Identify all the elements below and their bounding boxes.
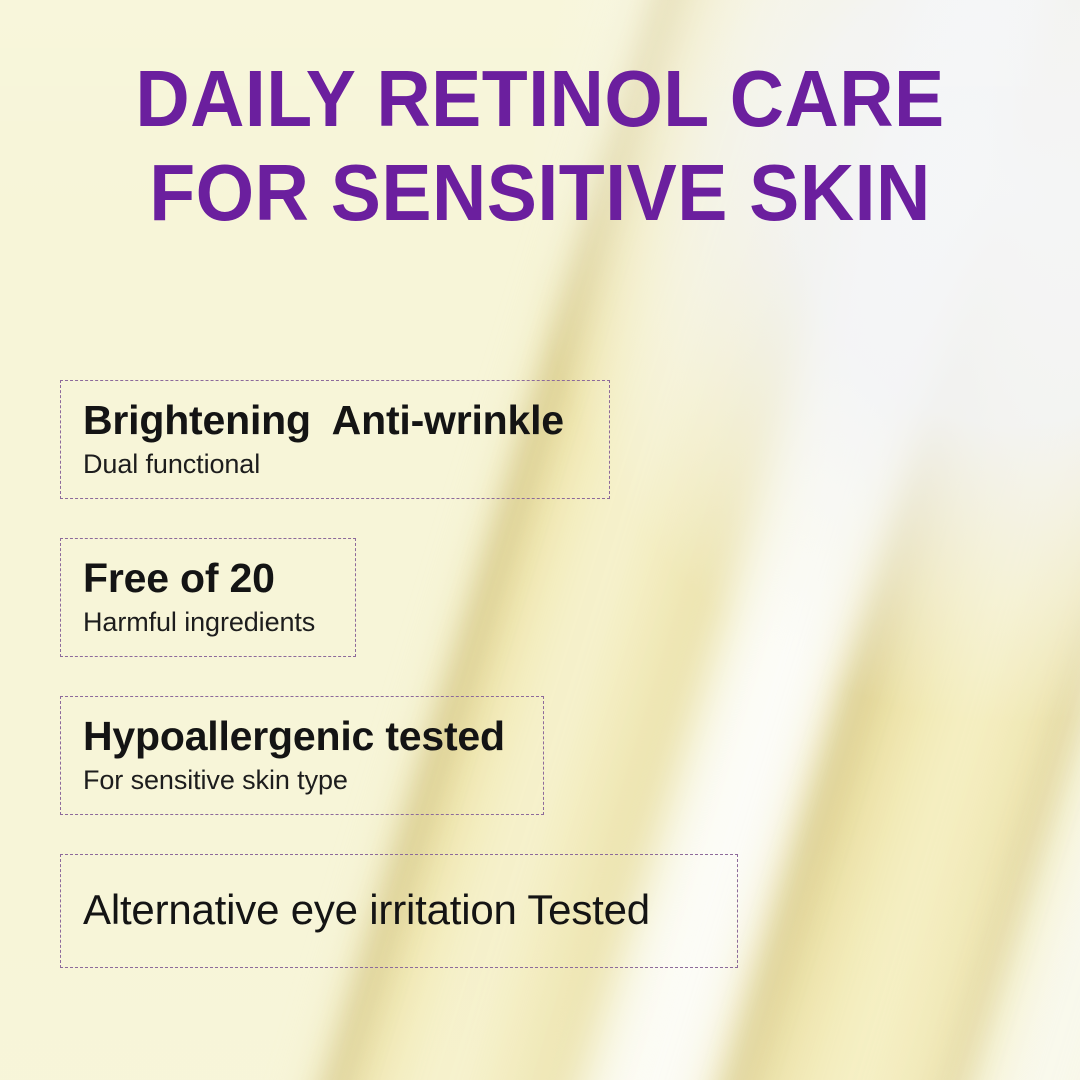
feature-title: Hypoallergenic tested xyxy=(83,711,521,761)
feature-box-eye-irritation: Alternative eye irritation Tested xyxy=(60,854,738,968)
feature-title: Brightening Anti-wrinkle xyxy=(83,395,587,445)
feature-title: Alternative eye irritation Tested xyxy=(83,883,650,937)
headline-line-2: FOR SENSITIVE SKIN xyxy=(32,146,1047,240)
feature-list: Brightening Anti-wrinkle Dual functional… xyxy=(60,380,738,1007)
feature-subtitle: Dual functional xyxy=(83,446,587,482)
feature-title: Free of 20 xyxy=(83,553,333,603)
feature-box-brightening: Brightening Anti-wrinkle Dual functional xyxy=(60,380,610,499)
headline-line-1: DAILY RETINOL CARE xyxy=(32,52,1047,146)
page-title: DAILY RETINOL CARE FOR SENSITIVE SKIN xyxy=(0,52,1080,240)
feature-subtitle: Harmful ingredients xyxy=(83,604,333,640)
feature-box-free-of-20: Free of 20 Harmful ingredients xyxy=(60,538,356,657)
feature-box-hypoallergenic: Hypoallergenic tested For sensitive skin… xyxy=(60,696,544,815)
feature-subtitle: For sensitive skin type xyxy=(83,762,521,798)
product-feature-poster: DAILY RETINOL CARE FOR SENSITIVE SKIN Br… xyxy=(0,0,1080,1080)
